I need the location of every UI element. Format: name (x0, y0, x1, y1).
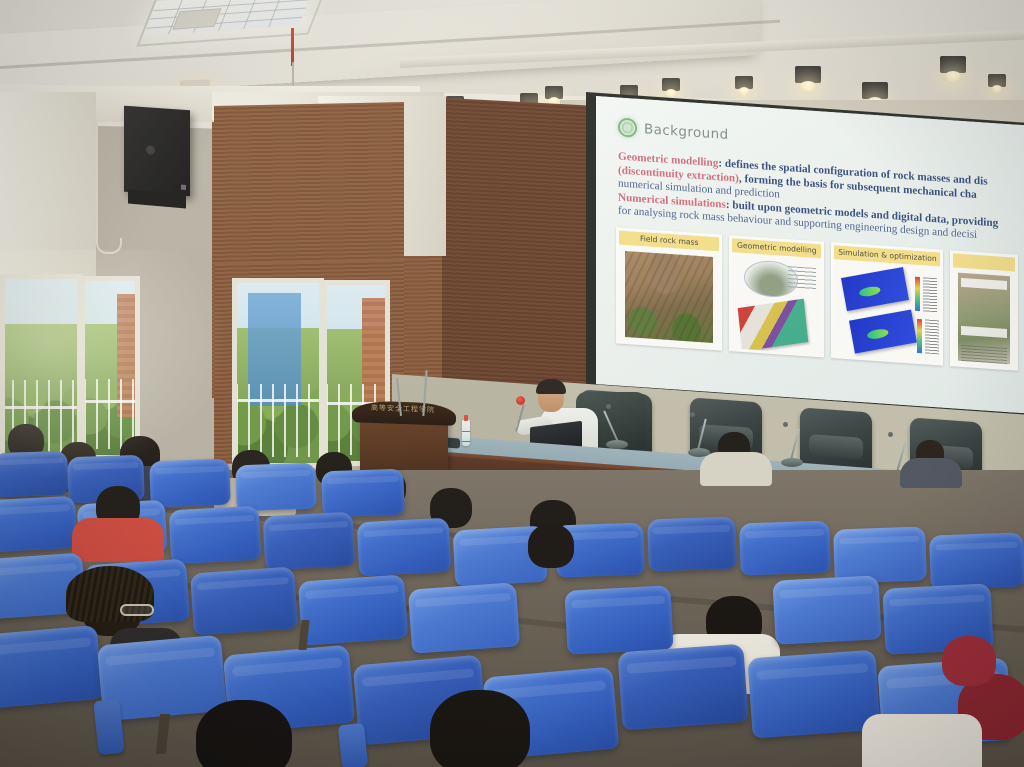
3d-geological-block-model (738, 299, 809, 352)
panel-figure-2 (732, 252, 821, 354)
auditorium-seat[interactable] (833, 526, 927, 583)
ceiling-spotlight (545, 86, 563, 99)
panel-mic-base-1[interactable] (606, 440, 628, 449)
fem-contour-block-lower (849, 309, 917, 353)
colorbar-upper (915, 277, 920, 311)
ceiling-spotlight (662, 78, 680, 91)
ceiling-spotlight (795, 66, 821, 83)
rock-outcrop-photo (625, 251, 713, 343)
slide-header-text: Background (644, 121, 729, 143)
auditorium-seat[interactable] (235, 463, 317, 512)
auditorium-seat[interactable] (0, 625, 103, 709)
window-frame-2 (80, 276, 140, 460)
panel-figure-4 (953, 267, 1015, 367)
slide-panel-field-report (950, 250, 1018, 371)
hvac-vent (172, 8, 221, 29)
auditorium-seat[interactable] (647, 516, 737, 571)
auditorium-seat[interactable] (0, 496, 77, 552)
audience-shoulder (72, 518, 164, 562)
audience-shoulder (700, 452, 772, 486)
panel-mic-head-4 (888, 432, 893, 437)
ceiling-spotlight (735, 76, 753, 89)
audience-head (196, 700, 292, 767)
colorbar-labels-upper (923, 277, 937, 312)
ceiling-spotlight (988, 74, 1006, 87)
report-text-block (961, 345, 1007, 364)
red-hanging-cord (291, 28, 294, 66)
audience-head (430, 690, 530, 767)
auditorium-seat[interactable] (617, 644, 748, 731)
auditorium-seat[interactable] (929, 532, 1024, 589)
panel-figure-3 (834, 259, 940, 362)
slide-panel-field-rock-mass: Field rock mass (616, 227, 722, 350)
slide-content: Background Geometric modelling: defines … (596, 96, 1024, 413)
panel-mic-base-3[interactable] (781, 458, 803, 467)
slide-panel-simulation-optimization: Simulation & optimization (831, 242, 943, 366)
panel-mic-head-3 (783, 422, 788, 427)
lecture-hall-photo: Background Geometric modelling: defines … (0, 0, 1024, 767)
podium-engraved-text: 高等安全工程学院 (360, 402, 446, 419)
auditorium-seat[interactable] (357, 518, 452, 577)
ceiling-spotlight (862, 82, 888, 99)
audience-shoulder (862, 714, 982, 767)
auditorium-seat[interactable] (564, 585, 673, 654)
blind-cord-loop[interactable] (96, 238, 122, 254)
panel-mic-head-2 (690, 412, 695, 417)
colorbar-lower (917, 319, 922, 353)
auditorium-seat[interactable] (739, 520, 831, 575)
auditorium-seat[interactable] (169, 506, 262, 565)
seat-armrest (338, 723, 368, 767)
auditorium-seat[interactable] (747, 650, 880, 739)
auditorium-seat[interactable] (298, 574, 408, 645)
wall-speaker (124, 106, 190, 197)
auditorium-seat[interactable] (263, 512, 356, 571)
slide-figure-row: Field rock mass Geometric modelling Simu… (616, 227, 1018, 370)
fem-contour-block-upper (841, 267, 909, 311)
ceiling-spotlight (940, 56, 966, 73)
audience-shoulder (900, 458, 962, 488)
panel-figure-1 (619, 245, 719, 348)
audience-glasses (120, 604, 154, 616)
circle-target-icon (618, 117, 637, 137)
seat-armrest (93, 699, 125, 755)
auditorium-seat[interactable] (0, 451, 69, 498)
colorbar-labels-lower (925, 319, 939, 354)
projection-screen[interactable]: Background Geometric modelling: defines … (596, 96, 1024, 413)
audience-head-scarf (942, 636, 996, 686)
water-bottle-1[interactable] (462, 420, 470, 446)
panel-mic-head-1 (606, 404, 611, 409)
window-frame-3 (232, 278, 324, 468)
auditorium-seat[interactable] (190, 566, 298, 635)
auditorium-seat[interactable] (772, 575, 881, 644)
auditorium-seat[interactable] (321, 469, 405, 518)
curtain-left (0, 92, 96, 282)
audience-head (528, 524, 574, 568)
slide-panel-geometric-modelling: Geometric modelling (729, 235, 824, 357)
window-blind-center (214, 102, 404, 281)
legend-lines (788, 266, 816, 290)
auditorium-seat[interactable] (149, 459, 231, 508)
presenter-microphone[interactable] (516, 396, 525, 405)
presenter-glasses (540, 392, 562, 398)
auditorium-seat[interactable] (408, 582, 520, 653)
blind-pull-cord[interactable] (96, 120, 98, 240)
